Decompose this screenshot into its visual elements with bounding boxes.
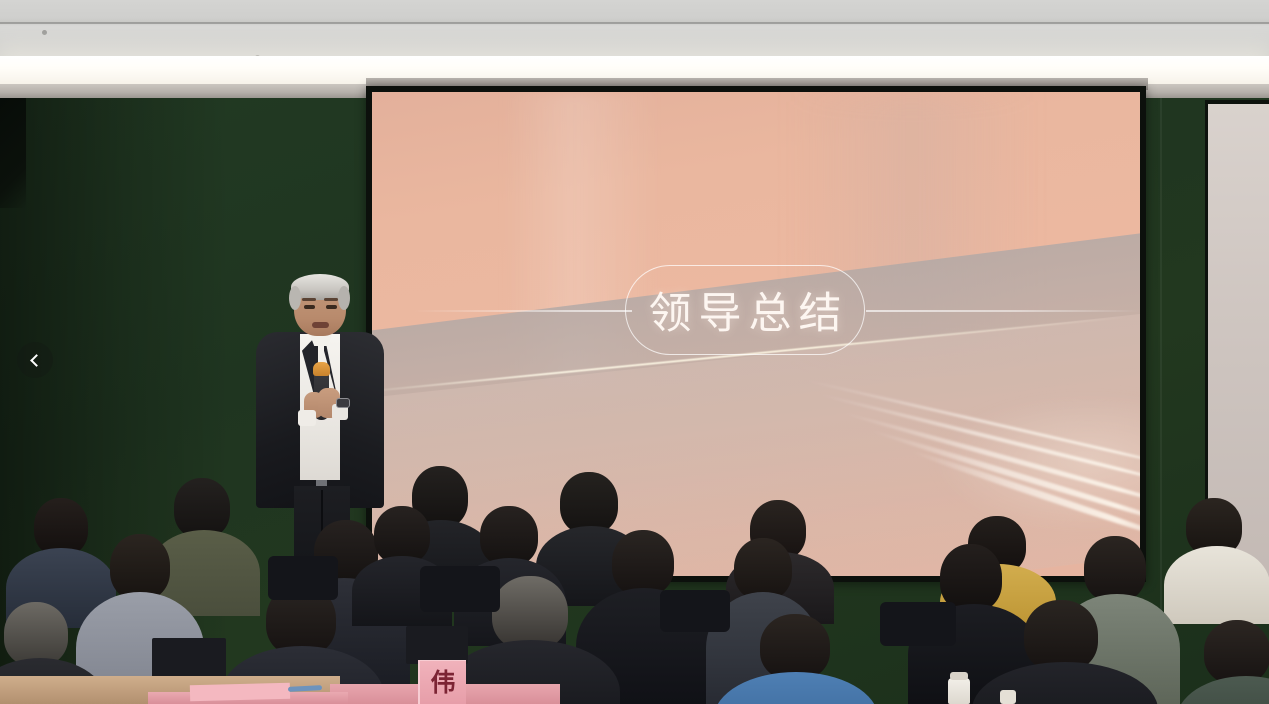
audience-head xyxy=(1084,536,1146,602)
chevron-left-icon xyxy=(30,354,43,367)
water-bottle-cap xyxy=(950,672,968,680)
carousel-prev-button[interactable] xyxy=(17,342,53,378)
speaker-hair-side xyxy=(289,286,301,310)
speaker-hair-side xyxy=(338,286,350,310)
name-placard-text: 伟 xyxy=(430,670,455,695)
audience-head xyxy=(174,478,230,538)
audience-head xyxy=(1204,620,1269,684)
chair-back xyxy=(420,566,500,612)
laptop xyxy=(406,626,468,664)
wall-corner-shadow xyxy=(0,98,26,208)
speaker-mouth xyxy=(312,322,329,328)
ceiling-seam xyxy=(0,22,1269,24)
projection-screen: 领导总结 xyxy=(372,92,1140,576)
audience-head xyxy=(492,576,568,650)
speaker-watch xyxy=(336,398,350,408)
pink-paper xyxy=(190,683,290,702)
audience-head xyxy=(760,614,830,680)
speaker-eyebrow xyxy=(324,298,338,301)
microphone-head xyxy=(313,362,330,376)
laptop xyxy=(152,638,226,680)
audience-head xyxy=(110,534,170,600)
name-placard: 伟 xyxy=(418,660,466,704)
audience-head xyxy=(560,472,618,534)
chair-back xyxy=(268,556,338,600)
audience-head xyxy=(480,506,538,566)
slide-rule-left xyxy=(412,310,632,312)
chair-back xyxy=(660,590,730,632)
audience-shoulders xyxy=(1164,546,1269,624)
water-bottle xyxy=(948,678,970,704)
conference-room-photo: 领导总结 xyxy=(0,0,1269,704)
ceiling-fixture-dot xyxy=(42,30,47,35)
slide-title-pill: 领导总结 xyxy=(625,265,865,355)
audience-head xyxy=(4,602,68,666)
speaker-cuff xyxy=(298,410,316,426)
water-bottle xyxy=(1000,690,1016,704)
speaker-eye xyxy=(304,305,315,309)
audience-head xyxy=(612,530,674,596)
speaker-eye xyxy=(326,305,337,309)
speaker-eyebrow xyxy=(302,298,316,301)
audience-head xyxy=(734,538,792,600)
chair-back xyxy=(880,602,956,646)
slide-title: 领导总结 xyxy=(642,279,849,341)
slide-rule-right xyxy=(866,310,1140,312)
